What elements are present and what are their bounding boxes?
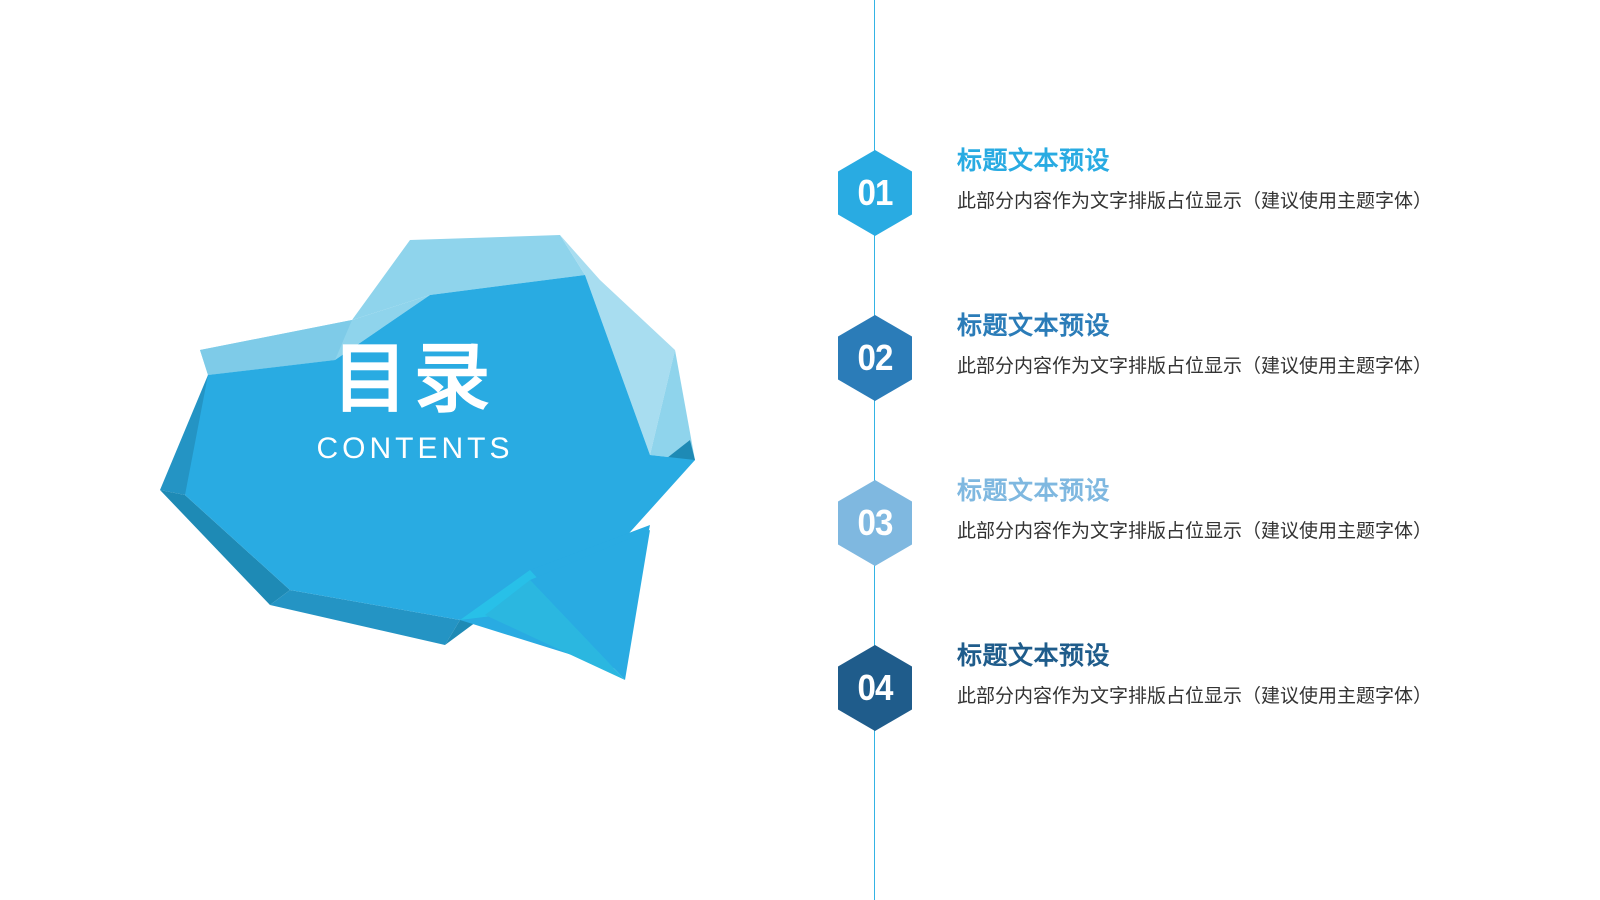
agenda-item-text: 标题文本预设此部分内容作为文字排版占位显示（建议使用主题字体） (957, 311, 1477, 380)
agenda-item-text: 标题文本预设此部分内容作为文字排版占位显示（建议使用主题字体） (957, 476, 1477, 545)
agenda-item-number: 03 (841, 480, 909, 566)
agenda-item-title: 标题文本预设 (957, 641, 1477, 671)
agenda-item-description: 此部分内容作为文字排版占位显示（建议使用主题字体） (957, 190, 1477, 215)
agenda-item-title: 标题文本预设 (957, 311, 1477, 341)
speech-bubble-graphic (130, 190, 710, 700)
agenda-item-title: 标题文本预设 (957, 146, 1477, 176)
agenda-item-number: 02 (841, 315, 909, 401)
agenda-item-description: 此部分内容作为文字排版占位显示（建议使用主题字体） (957, 685, 1477, 710)
agenda-item-title: 标题文本预设 (957, 476, 1477, 506)
agenda-item-number: 01 (841, 150, 909, 236)
agenda-item-description: 此部分内容作为文字排版占位显示（建议使用主题字体） (957, 520, 1477, 545)
agenda-item-text: 标题文本预设此部分内容作为文字排版占位显示（建议使用主题字体） (957, 146, 1477, 215)
agenda-item-number: 04 (841, 645, 909, 731)
timeline-axis (874, 0, 875, 900)
agenda-item-text: 标题文本预设此部分内容作为文字排版占位显示（建议使用主题字体） (957, 641, 1477, 710)
agenda-item-description: 此部分内容作为文字排版占位显示（建议使用主题字体） (957, 355, 1477, 380)
